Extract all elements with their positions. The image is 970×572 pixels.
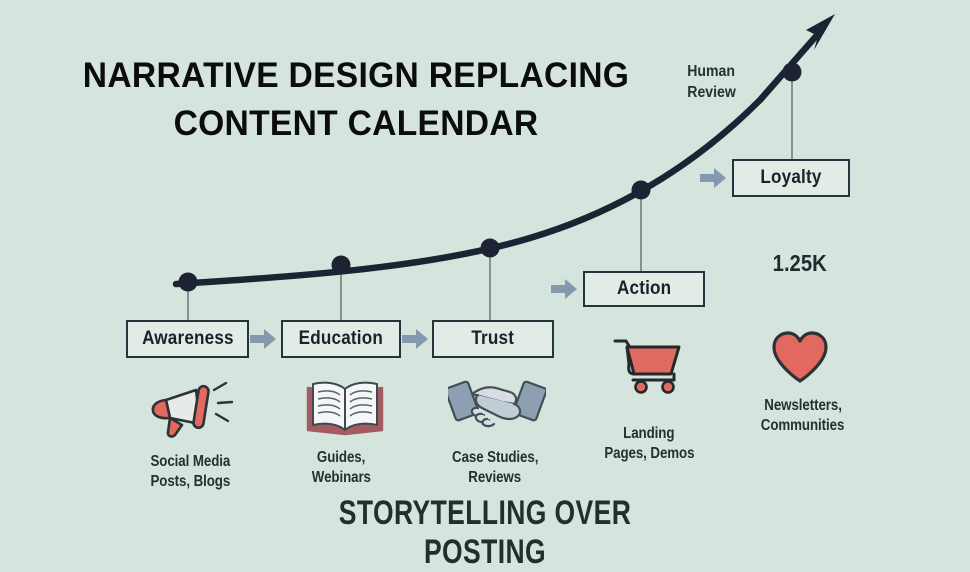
stage-box-action[interactable]: Action: [583, 271, 705, 307]
human-review-annotation: Human Review: [684, 62, 772, 104]
node-education: [332, 256, 351, 275]
caption-awareness: Social Media Posts, Blogs: [115, 452, 265, 492]
human-review-line-1: Human: [687, 62, 735, 83]
title-line-1: NARRATIVE DESIGN REPLACING: [49, 52, 663, 100]
caption-action-line-1: Landing: [623, 424, 674, 444]
stage-box-awareness[interactable]: Awareness: [126, 320, 249, 358]
caption-loyalty: Newsletters, Communities: [730, 396, 876, 436]
flow-arrow-action-to-loyalty: [700, 167, 726, 189]
shopping-cart-icon: [613, 334, 685, 396]
caption-action-line-2: Pages, Demos: [604, 444, 694, 464]
stage-label-trust: Trust: [472, 328, 515, 350]
node-trust: [481, 239, 500, 258]
caption-loyalty-line-1: Newsletters,: [764, 396, 842, 416]
heart-icon: [771, 330, 829, 384]
metric-value: 1.25K: [745, 250, 855, 277]
flow-arrow-awareness-to-education: [250, 328, 276, 350]
stage-box-loyalty[interactable]: Loyalty: [732, 159, 850, 197]
stage-box-education[interactable]: Education: [281, 320, 401, 358]
stage-box-trust[interactable]: Trust: [432, 320, 554, 358]
caption-education-line-2: Webinars: [311, 468, 370, 488]
caption-awareness-line-2: Posts, Blogs: [150, 472, 230, 492]
page-title: NARRATIVE DESIGN REPLACING CONTENT CALEN…: [49, 52, 663, 147]
megaphone-icon: [144, 378, 236, 440]
title-line-2: CONTENT CALENDAR: [49, 100, 663, 148]
metric-text: 1.25K: [773, 250, 827, 277]
caption-education: Guides, Webinars: [276, 448, 406, 488]
bottom-banner-text: STORYTELLING OVER POSTING: [290, 494, 680, 572]
infographic-canvas: NARRATIVE DESIGN REPLACING CONTENT CALEN…: [0, 0, 970, 540]
caption-awareness-line-1: Social Media: [150, 452, 230, 472]
caption-trust-line-2: Reviews: [469, 468, 522, 488]
caption-loyalty-line-2: Communities: [761, 416, 844, 436]
bottom-banner: STORYTELLING OVER POSTING: [235, 494, 735, 572]
node-awareness: [179, 273, 198, 292]
stage-label-loyalty: Loyalty: [760, 167, 821, 189]
caption-education-line-1: Guides,: [317, 448, 365, 468]
caption-trust: Case Studies, Reviews: [424, 448, 566, 488]
stage-label-education: Education: [299, 328, 383, 350]
node-action: [632, 181, 651, 200]
human-review-line-2: Review: [687, 83, 736, 104]
curve-arrowhead: [806, 14, 835, 50]
flow-arrow-education-to-trust: [402, 328, 428, 350]
node-loyalty: [783, 63, 802, 82]
caption-action: Landing Pages, Demos: [578, 424, 720, 464]
caption-trust-line-1: Case Studies,: [452, 448, 538, 468]
stage-label-action: Action: [617, 278, 671, 300]
open-book-icon: [305, 378, 385, 436]
stage-label-awareness: Awareness: [142, 328, 234, 350]
handshake-icon: [448, 374, 546, 434]
flow-arrow-trust-to-action: [551, 278, 577, 300]
